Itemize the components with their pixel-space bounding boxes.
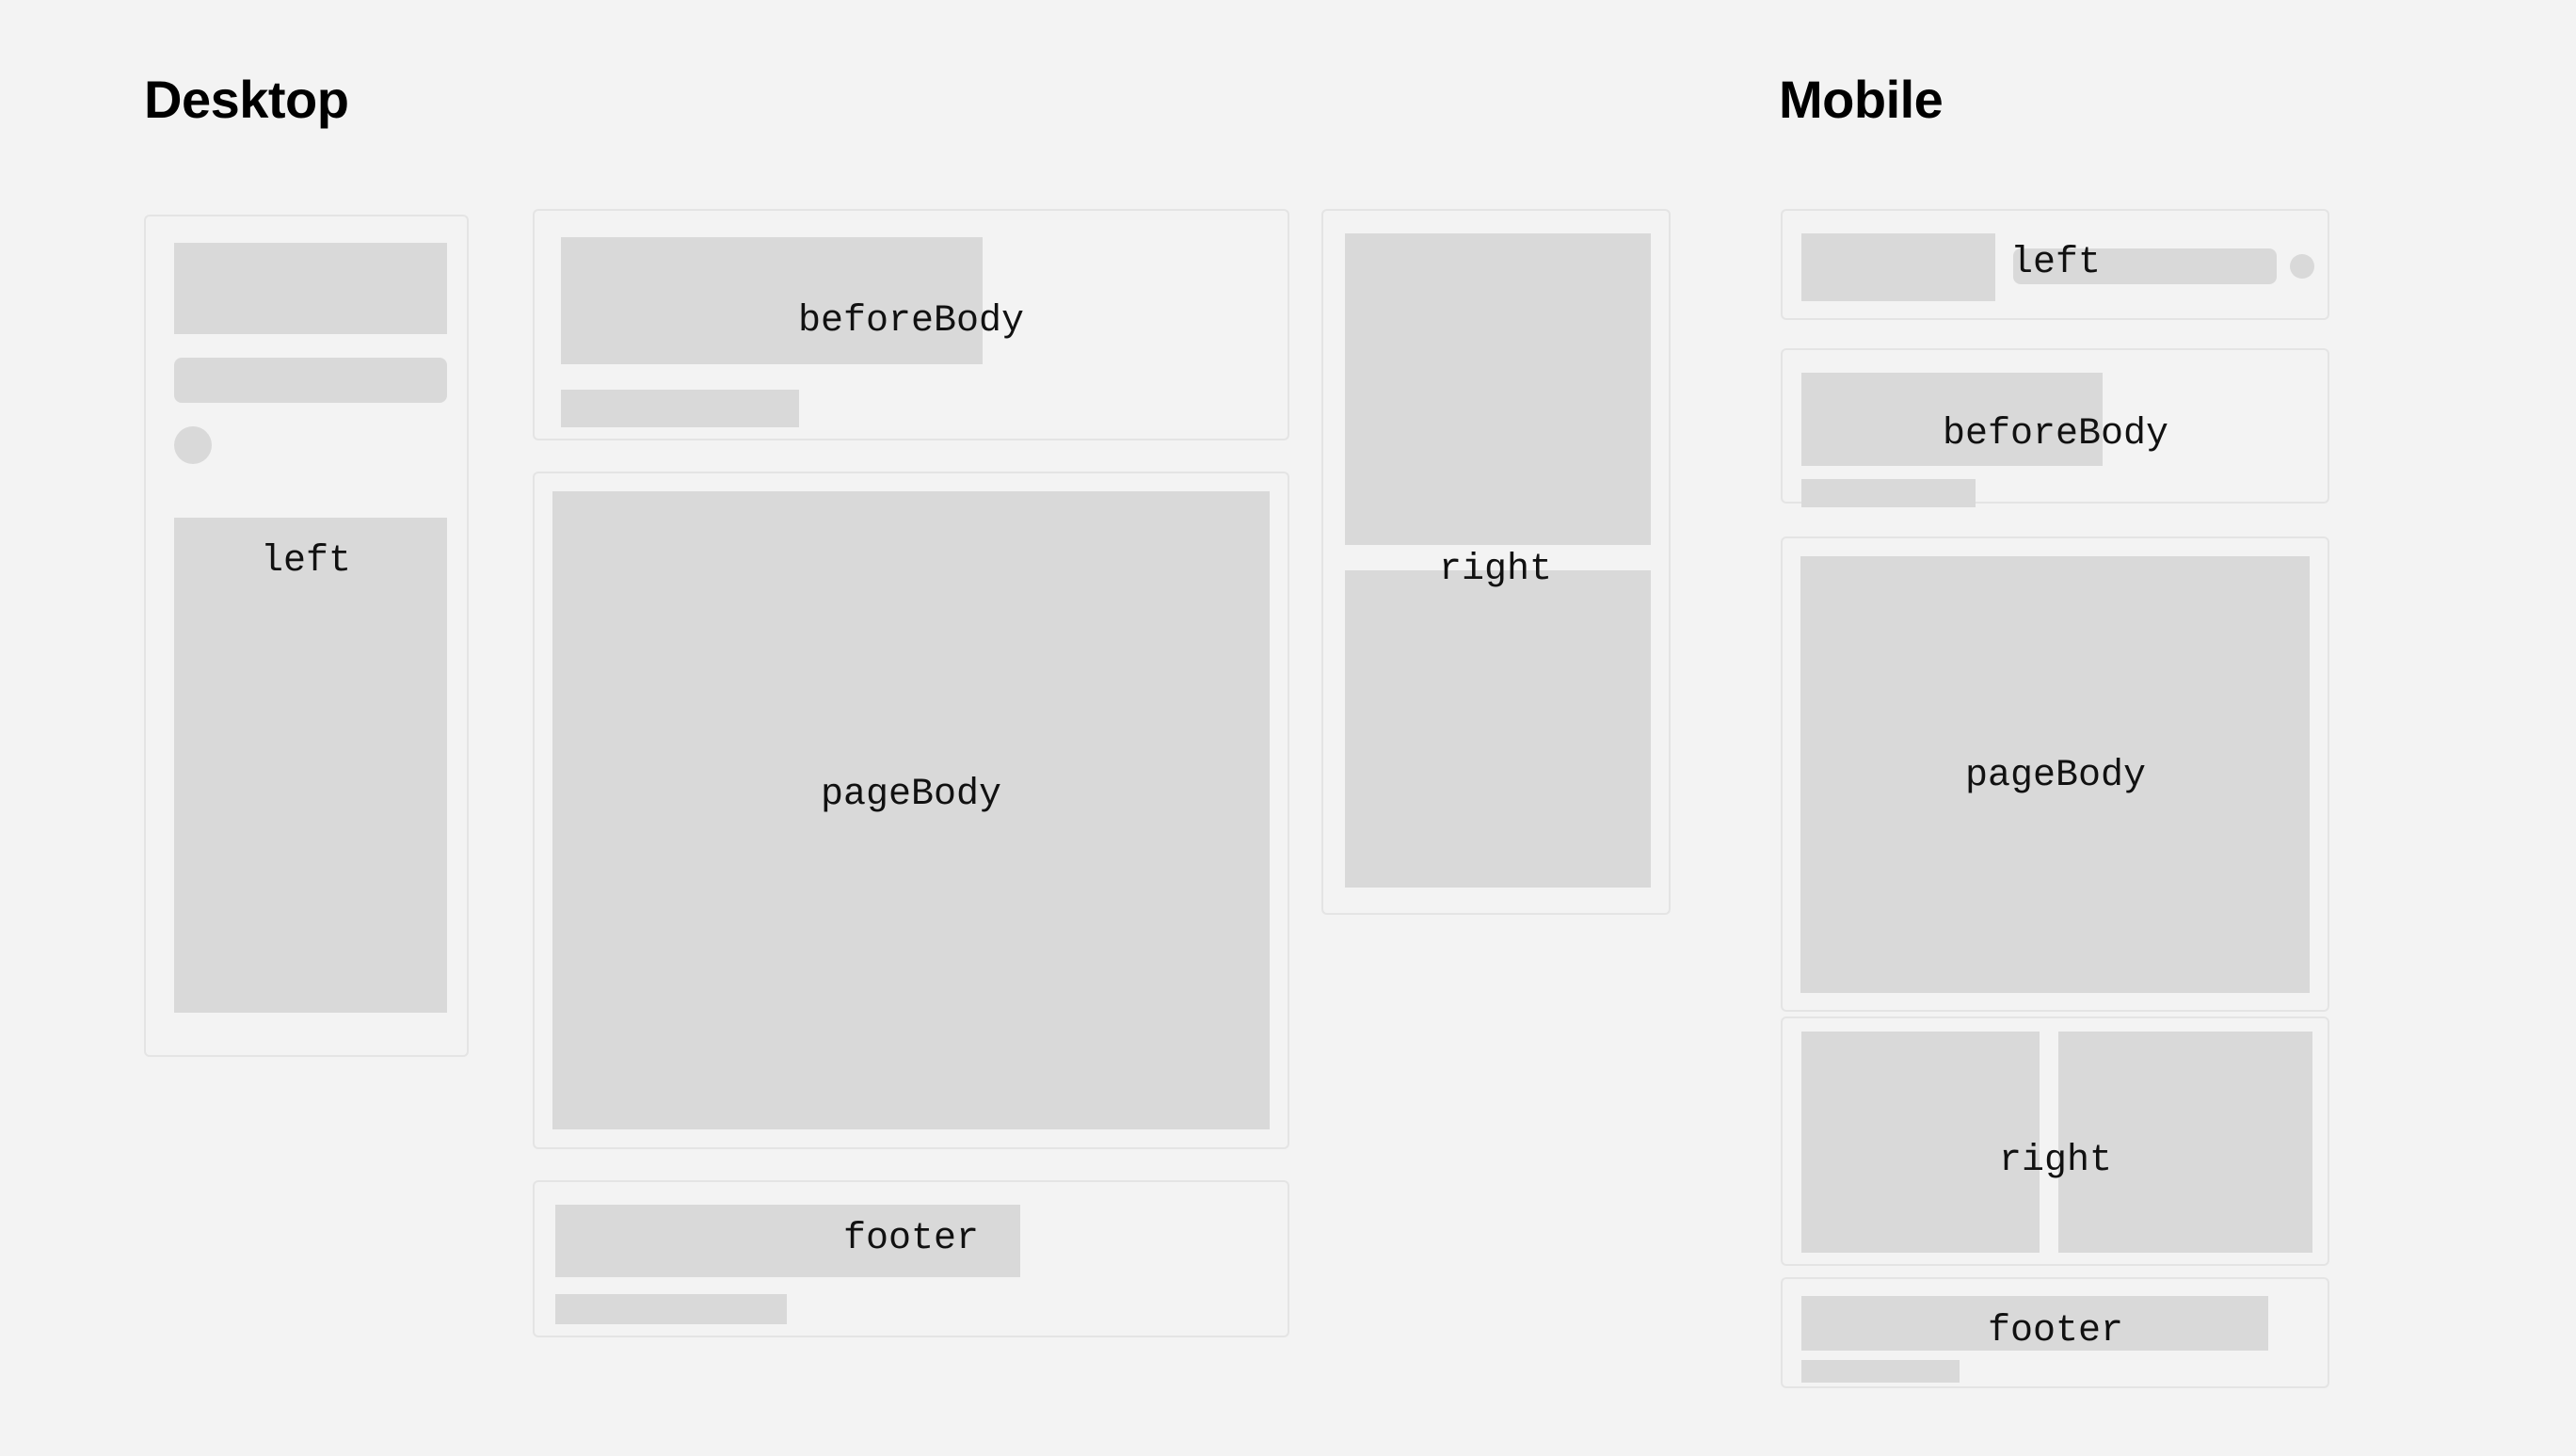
mobile-left-row-panel[interactable] — [1781, 209, 2329, 320]
page-title-mobile: Mobile — [1779, 73, 1943, 126]
page-title-desktop: Desktop — [144, 73, 348, 126]
mobile-before-body-panel[interactable] — [1781, 348, 2329, 504]
skeleton-avatar-dot — [2290, 254, 2314, 279]
desktop-page-body-panel[interactable] — [533, 472, 1289, 1149]
skeleton-header-block — [174, 243, 447, 334]
skeleton-subheader-bar — [174, 358, 447, 403]
skeleton-wide-block — [1801, 1296, 2268, 1351]
skeleton-upper-block — [1345, 233, 1651, 545]
skeleton-wide-block — [1801, 373, 2103, 466]
mobile-footer-panel[interactable] — [1781, 1277, 2329, 1388]
skeleton-right-block — [2058, 1032, 2312, 1253]
skeleton-wide-block — [555, 1205, 1020, 1277]
skeleton-short-bar — [1801, 479, 1976, 507]
desktop-left-sidebar-panel[interactable] — [144, 215, 469, 1057]
skeleton-large-content-block — [552, 491, 1270, 1129]
skeleton-left-block — [1801, 1032, 2040, 1253]
skeleton-avatar-dot — [174, 426, 212, 464]
skeleton-short-bar — [561, 390, 799, 427]
skeleton-large-content-block — [1800, 556, 2310, 993]
skeleton-short-bar — [1801, 1360, 1960, 1383]
skeleton-wide-block — [561, 237, 983, 364]
mobile-page-body-panel[interactable] — [1781, 536, 2329, 1012]
mobile-right-row-panel[interactable] — [1781, 1016, 2329, 1266]
skeleton-pill-bar — [2013, 248, 2277, 284]
skeleton-tall-content-block — [174, 518, 447, 1013]
desktop-right-rail-panel[interactable] — [1321, 209, 1671, 915]
skeleton-lower-block — [1345, 570, 1651, 888]
desktop-footer-panel[interactable] — [533, 1180, 1289, 1337]
skeleton-block — [1801, 233, 1995, 301]
skeleton-short-bar — [555, 1294, 787, 1324]
desktop-before-body-panel[interactable] — [533, 209, 1289, 440]
wireframe-canvas: Desktop Mobile left beforeBody pageBody … — [0, 0, 2576, 1456]
